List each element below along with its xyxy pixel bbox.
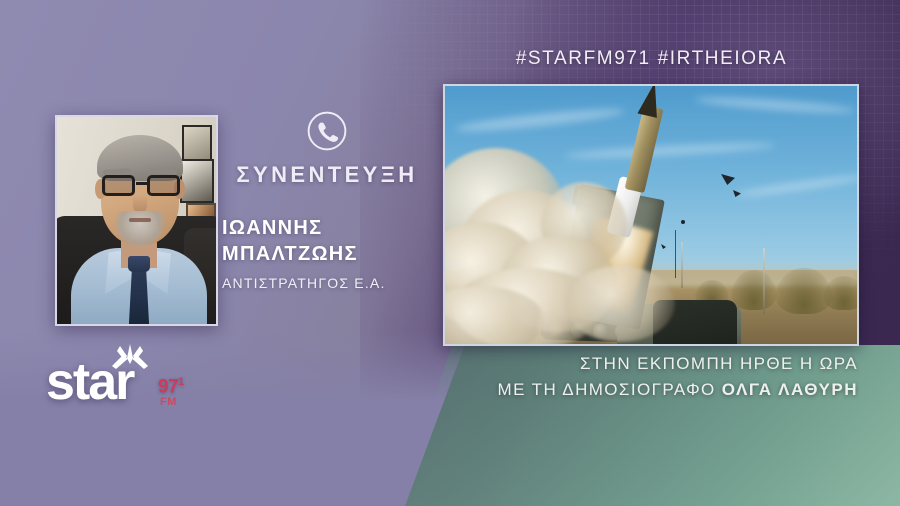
smoke-plume — [565, 266, 675, 342]
caption-block: ΣΤΗΝ ΕΚΠΟΜΠΗ ΗΡΘΕ Η ΩΡΑ ΜΕ ΤΗ ΔΗΜΟΣΙΟΓΡΑ… — [298, 354, 858, 400]
field-pole — [681, 242, 683, 288]
guest-mouth — [129, 218, 151, 222]
eyeglasses-icon — [101, 175, 181, 197]
eyeglass-lens-right — [147, 175, 180, 196]
launcher-antenna — [675, 230, 676, 278]
frequency-decimal: 1 — [178, 376, 184, 388]
station-band: FM — [160, 396, 177, 408]
guest-name: ΙΩΑΝΝΗΣ ΜΠΑΛΤΖΩΗΣ — [222, 216, 432, 267]
wall-picture-frame — [180, 159, 214, 203]
desert-brush — [731, 270, 777, 310]
video-thumbnail[interactable] — [443, 84, 859, 346]
flying-debris — [681, 220, 685, 224]
hashtags-banner: #STARFM971 #IRTHEIORA — [443, 48, 860, 70]
guest-info-block: ΣΥΝΕΝΤΕΥΞΗ ΙΩΑΝΝΗΣ ΜΠΑΛΤΖΩΗΣ ΑΝΤΙΣΤΡΑΤΗΓ… — [222, 110, 432, 291]
broadcast-overlay-screen: #STARFM971 #IRTHEIORA — [0, 0, 900, 506]
field-pole — [763, 248, 765, 314]
guest-role: ΑΝΤΙΣΤΡΑΤΗΓΟΣ Ε.Α. — [222, 275, 432, 291]
eyeglass-lens-left — [102, 175, 135, 196]
desert-brush — [823, 276, 859, 310]
station-frequency: 971 — [158, 376, 184, 398]
interview-label: ΣΥΝΕΝΤΕΥΞΗ — [222, 162, 432, 188]
guest-name-line-2: ΜΠΑΛΤΖΩΗΣ — [222, 242, 432, 268]
caption-line-2: ΜΕ ΤΗ ΔΗΜΟΣΙΟΓΡΑΦΟ ΟΛΓΑ ΛΑΘΥΡΗ — [298, 380, 858, 400]
caption-prefix: ΜΕ ΤΗ ΔΗΜΟΣΙΟΓΡΑΦΟ — [498, 380, 722, 399]
caption-line-1: ΣΤΗΝ ΕΚΠΟΜΠΗ ΗΡΘΕ Η ΩΡΑ — [298, 354, 858, 374]
guest-video-thumbnail[interactable] — [55, 115, 218, 326]
phone-in-circle-icon — [306, 110, 348, 152]
station-logo[interactable]: star 971 FM — [46, 346, 206, 412]
station-wordmark: star — [46, 356, 133, 408]
guest-name-line-1: ΙΩΑΝΝΗΣ — [222, 216, 432, 242]
caption-host-name: ΟΛΓΑ ΛΑΘΥΡΗ — [722, 380, 858, 399]
wall-picture-frame — [182, 125, 212, 163]
frequency-main: 97 — [158, 376, 178, 397]
necktie-knot — [128, 256, 150, 272]
eyeglass-bridge — [136, 182, 147, 185]
